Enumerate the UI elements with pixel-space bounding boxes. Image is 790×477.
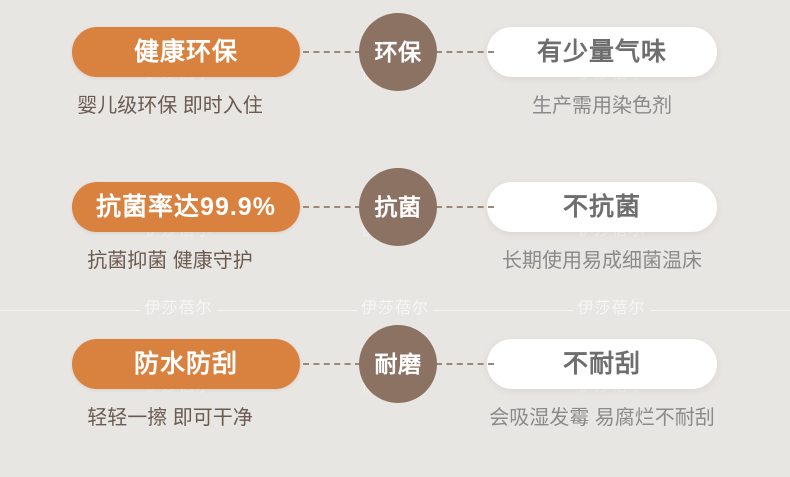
connector-dashed-left: [303, 363, 361, 365]
con-pill-label: 不耐刮: [563, 352, 641, 377]
con-pill-label: 有少量气味: [537, 40, 667, 65]
category-badge-label: 环保: [375, 41, 422, 64]
con-side: 有少量气味 生产需用染色剂: [450, 8, 790, 163]
pro-pill-label: 防水防刮: [134, 352, 238, 377]
pro-pill[interactable]: 防水防刮: [72, 339, 300, 389]
pro-subtitle: 抗菌抑菌 健康守护: [0, 251, 340, 271]
con-subtitle: 长期使用易成细菌温床: [450, 251, 754, 271]
pro-side: 健康环保 婴儿级环保 即时入住: [0, 8, 340, 163]
connector-dashed-right: [436, 51, 494, 53]
category-badge[interactable]: 环保: [359, 13, 437, 91]
pro-pill[interactable]: 抗菌率达99.9%: [72, 182, 300, 232]
connector-dashed-right: [436, 363, 494, 365]
connector-dashed-left: [303, 51, 361, 53]
connector-dashed-left: [303, 206, 361, 208]
pro-pill[interactable]: 健康环保: [72, 27, 300, 77]
con-pill[interactable]: 有少量气味: [487, 27, 717, 77]
comparison-row: 抗菌率达99.9% 抗菌抑菌 健康守护 抗菌 不抗菌 长期使用易成细菌温床: [0, 163, 790, 318]
con-pill[interactable]: 不耐刮: [487, 339, 717, 389]
con-pill[interactable]: 不抗菌: [487, 182, 717, 232]
category-badge[interactable]: 抗菌: [359, 168, 437, 246]
pro-side: 防水防刮 轻轻一擦 即可干净: [0, 320, 340, 475]
con-subtitle: 生产需用染色剂: [450, 96, 754, 116]
con-side: 不抗菌 长期使用易成细菌温床: [450, 163, 790, 318]
category-badge[interactable]: 耐磨: [359, 325, 437, 403]
category-badge-label: 抗菌: [375, 196, 422, 219]
pro-side: 抗菌率达99.9% 抗菌抑菌 健康守护: [0, 163, 340, 318]
pro-subtitle: 轻轻一擦 即可干净: [0, 408, 340, 428]
connector-dashed-right: [436, 206, 494, 208]
con-subtitle: 会吸湿发霉 易腐烂不耐刮: [450, 408, 754, 428]
pro-subtitle: 婴儿级环保 即时入住: [0, 96, 340, 116]
comparison-row: 健康环保 婴儿级环保 即时入住 环保 有少量气味 生产需用染色剂: [0, 8, 790, 163]
con-side: 不耐刮 会吸湿发霉 易腐烂不耐刮: [450, 320, 790, 475]
feature-comparison-list: 健康环保 婴儿级环保 即时入住 环保 有少量气味 生产需用染色剂 抗菌率达99.…: [0, 0, 790, 477]
pro-pill-label: 抗菌率达99.9%: [96, 195, 276, 220]
con-pill-label: 不抗菌: [563, 195, 641, 220]
category-badge-label: 耐磨: [375, 353, 422, 376]
pro-pill-label: 健康环保: [134, 40, 238, 65]
comparison-row: 防水防刮 轻轻一擦 即可干净 耐磨 不耐刮 会吸湿发霉 易腐烂不耐刮: [0, 320, 790, 475]
